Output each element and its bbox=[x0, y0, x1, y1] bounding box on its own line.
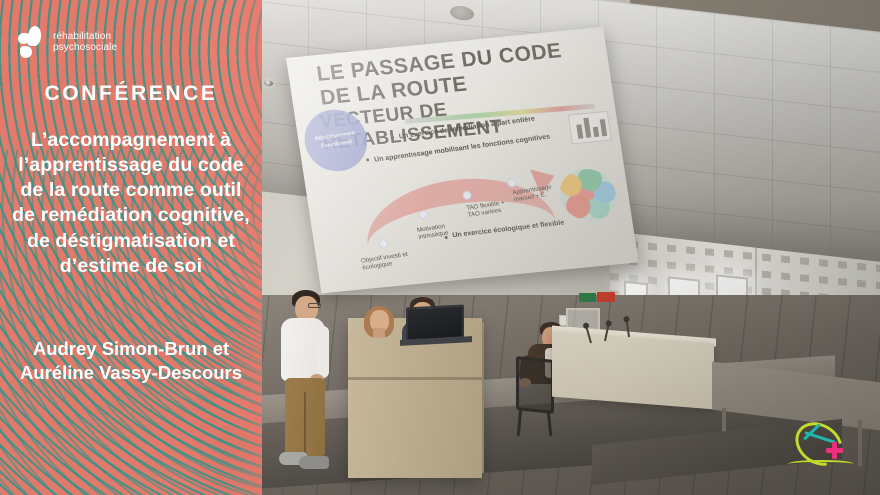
title-overlay-panel: réhabilitation psychosociale CONFÉRENCE … bbox=[0, 0, 262, 495]
logo-petal-medium bbox=[20, 46, 32, 58]
shoe bbox=[299, 456, 329, 469]
projection-screen: LE PASSAGE DU CODE DE LA ROUTE VECTEUR D… bbox=[286, 27, 639, 293]
event-type-kicker: CONFÉRENCE bbox=[0, 82, 262, 106]
organization-logo: réhabilitation psychosociale bbox=[18, 26, 117, 58]
logo-petal-small bbox=[18, 33, 29, 44]
conference-title: L’accompagnement à l’apprentissage du co… bbox=[12, 128, 250, 279]
logo-line-2: psychosociale bbox=[53, 42, 117, 53]
overlay-content: réhabilitation psychosociale CONFÉRENCE … bbox=[0, 0, 262, 495]
exit-sign-green-icon bbox=[579, 293, 596, 302]
organization-name: réhabilitation psychosociale bbox=[53, 31, 117, 54]
flower-petal-logo-icon bbox=[18, 26, 46, 58]
leg-seam bbox=[304, 392, 306, 454]
glasses-icon bbox=[308, 303, 321, 308]
partner-logo-icon bbox=[788, 420, 860, 476]
logo-plus-vertical bbox=[832, 442, 837, 459]
screen-glare bbox=[286, 27, 639, 293]
logo-line-1: réhabilitation bbox=[53, 31, 117, 42]
speaker-table bbox=[552, 331, 714, 410]
speaker-names: Audrey Simon-Brun et Auréline Vassy-Desc… bbox=[10, 337, 252, 386]
lectern-trim bbox=[348, 377, 482, 380]
neck bbox=[373, 328, 385, 338]
logo-swoosh bbox=[788, 460, 854, 468]
arm bbox=[317, 326, 329, 378]
chair bbox=[516, 356, 554, 414]
fire-safety-sign-icon bbox=[597, 292, 615, 302]
logo-petal-large bbox=[27, 25, 42, 46]
conference-announcement-slide: LE PASSAGE DU CODE DE LA ROUTE VECTEUR D… bbox=[0, 0, 880, 495]
